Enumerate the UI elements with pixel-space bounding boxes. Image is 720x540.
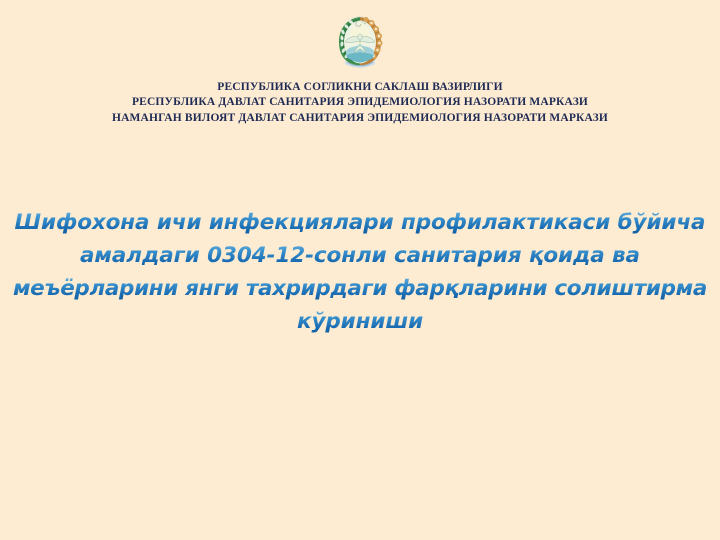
- slide-title: Шифохона ичи инфекциялари профилактикаси…: [8, 206, 712, 338]
- header-line-ministry: РЕСПУБЛИКА СОГЛИКНИ САКЛАШ ВАЗИРЛИГИ: [0, 80, 720, 95]
- header-line-namangan-center: НАМАНГАН ВИЛОЯТ ДАВЛАТ САНИТАРИЯ ЭПИДЕМИ…: [0, 111, 720, 126]
- title-line-2: амалдаги 0304-12-сонли санитария қоида в…: [8, 239, 712, 272]
- presentation-slide: РЕСПУБЛИКА СОГЛИКНИ САКЛАШ ВАЗИРЛИГИ РЕС…: [0, 0, 720, 540]
- header-line-republic-center: РЕСПУБЛИКА ДАВЛАТ САНИТАРИЯ ЭПИДЕМИОЛОГИ…: [0, 95, 720, 110]
- title-line-3: меъёрларини янги тахрирдаги фарқларини с…: [8, 272, 712, 305]
- title-line-1: Шифохона ичи инфекциялари профилактикаси…: [8, 206, 712, 239]
- emblem-container: [0, 12, 720, 72]
- title-line-4: кўриниши: [8, 305, 712, 338]
- organisation-header: РЕСПУБЛИКА СОГЛИКНИ САКЛАШ ВАЗИРЛИГИ РЕС…: [0, 80, 720, 126]
- uzbekistan-coat-of-arms-icon: [332, 12, 388, 72]
